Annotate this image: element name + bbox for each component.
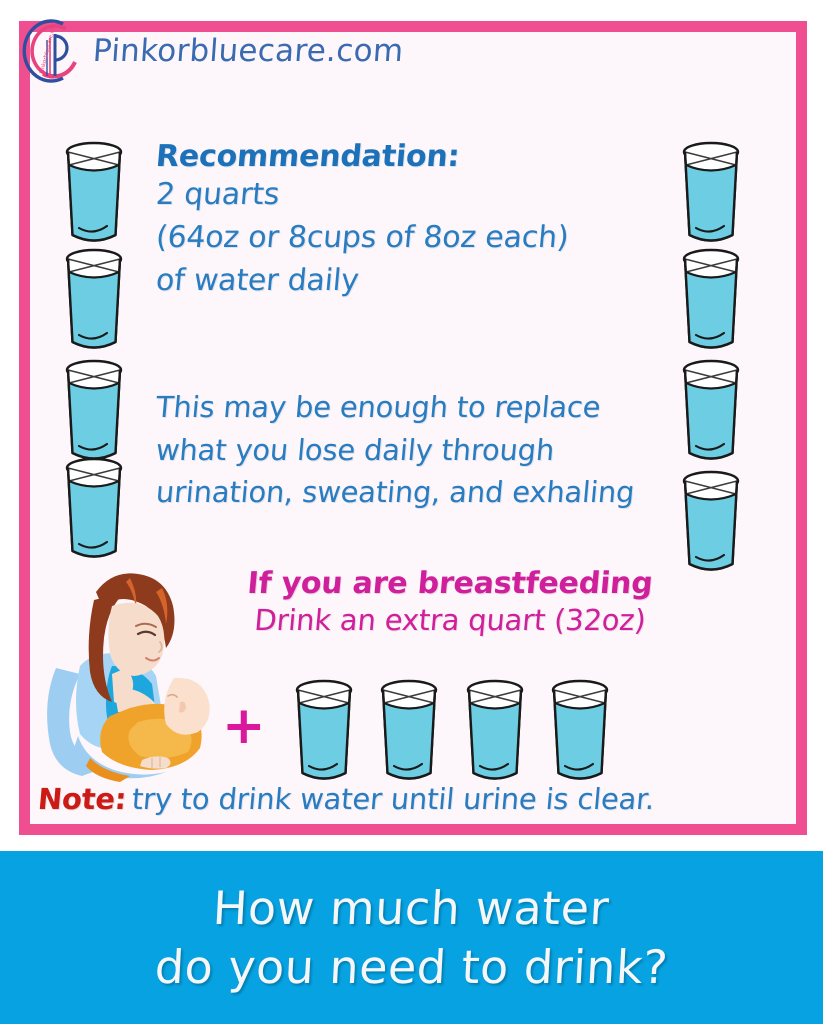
water-glass-icon — [377, 677, 441, 785]
banner-line-1: How much water — [212, 879, 611, 938]
note-label: Note: — [37, 782, 128, 816]
brand-logo[interactable]: Pinkorbluecare.com Pinkorbluecare.com — [19, 15, 403, 87]
water-glass-icon — [62, 139, 126, 247]
breastfeeding-mother-icon — [34, 562, 212, 788]
water-glass-icon — [679, 468, 743, 576]
recommendation-line-2: (64oz or 8cups of 8oz each) — [154, 217, 678, 260]
replace-line-3: urination, sweating, and exhaling — [154, 471, 688, 514]
banner-line-2: do you need to drink? — [153, 938, 669, 997]
bottom-banner: How much water do you need to drink? — [0, 851, 823, 1024]
water-glass-icon — [679, 246, 743, 354]
breastfeeding-subheading: Drink an extra quart (32oz) — [188, 602, 711, 640]
recommendation-line-1: 2 quarts — [154, 174, 678, 217]
plus-sign: + — [222, 700, 266, 752]
infographic-poster: Pinkorbluecare.com Pinkorbluecare.com — [0, 0, 823, 1024]
breastfeeding-heading: If you are breastfeeding — [188, 566, 711, 602]
replace-note-block: This may be enough to replace what you l… — [156, 386, 686, 514]
water-glass-icon — [292, 677, 356, 785]
water-glass-icon — [463, 677, 527, 785]
recommendation-block: Recommendation: 2 quarts (64oz or 8cups … — [156, 139, 676, 302]
note-row: Note: try to drink water until urine is … — [38, 782, 655, 816]
water-glass-icon — [548, 677, 612, 785]
water-glass-icon — [62, 455, 126, 563]
brand-name: Pinkorbluecare.com — [92, 33, 405, 69]
note-text: try to drink water until urine is clear. — [131, 782, 656, 816]
water-glass-icon — [62, 357, 126, 465]
pinkorbluecare-monogram-icon: Pinkorbluecare.com — [19, 16, 85, 86]
replace-line-2: what you lose daily through — [154, 429, 688, 472]
water-glass-icon — [62, 246, 126, 354]
water-glass-icon — [679, 139, 743, 247]
breastfeeding-block: If you are breastfeeding Drink an extra … — [190, 566, 710, 640]
replace-line-1: This may be enough to replace — [154, 386, 688, 429]
water-glass-icon — [679, 357, 743, 465]
recommendation-line-3: of water daily — [154, 260, 678, 303]
recommendation-title: Recommendation: — [154, 139, 677, 174]
